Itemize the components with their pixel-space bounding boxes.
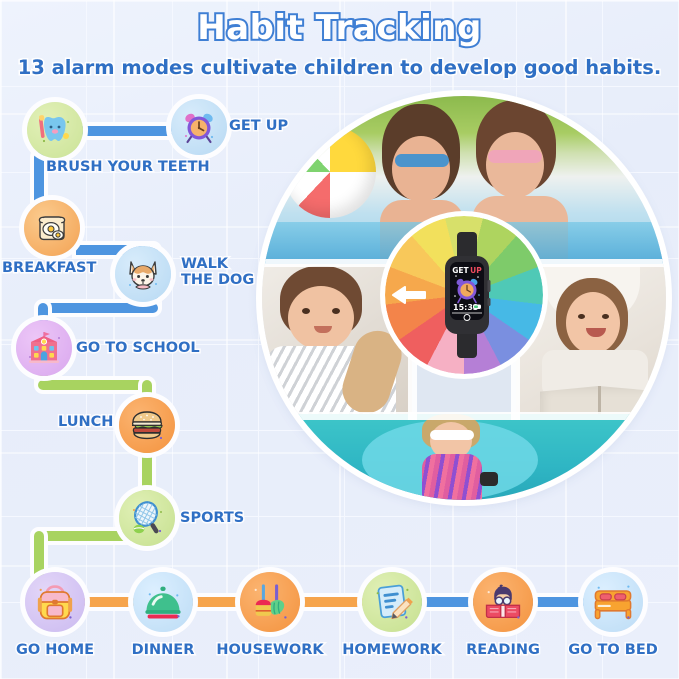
photo-girl-pool-sunglasses [262, 414, 666, 500]
habit-label-go-to-bed: GO TO BED [568, 643, 658, 659]
connector-sports-to-home-v [34, 531, 44, 579]
page-subtitle: 13 alarm modes cultivate children to dev… [0, 56, 679, 79]
habit-label-go-home: GO HOME [16, 643, 94, 659]
habit-node-walk-the-dog[interactable] [115, 246, 171, 302]
page-title: Habit Tracking [0, 8, 679, 48]
tennis-racket-icon [127, 498, 167, 538]
habit-node-go-to-school[interactable] [16, 320, 72, 376]
habit-label-sports: SPORTS [180, 511, 244, 527]
watch-mode-word2: UP [470, 266, 482, 275]
connector-school-to-lunch-h [38, 380, 152, 390]
collage-divider [262, 412, 666, 420]
habit-label-homework: HOMEWORK [342, 643, 442, 659]
habit-label-housework: HOUSEWORK [216, 643, 323, 659]
habit-node-go-to-bed[interactable] [583, 572, 643, 632]
connector-lunch-to-sports [142, 448, 152, 496]
habit-node-lunch[interactable] [119, 397, 175, 453]
food-cloche-icon [141, 580, 185, 624]
toothbrush-tooth-icon [35, 110, 75, 150]
habit-label-go-to-school: GO TO SCHOOL [76, 341, 200, 357]
connector-teeth-to-getup [78, 126, 174, 136]
backpack-icon [33, 580, 77, 624]
habit-label-reading: READING [466, 643, 540, 659]
habit-node-homework[interactable] [362, 572, 422, 632]
alarm-clock-icon [179, 107, 219, 147]
connector-reading-to-bed [531, 597, 585, 607]
habit-label-lunch: LUNCH [58, 415, 113, 431]
school-building-icon [24, 328, 64, 368]
dog-icon [123, 254, 163, 294]
connector-housework-to-homework [298, 597, 364, 607]
walk-the-dog-line2: THE DOG [181, 272, 254, 288]
habit-node-brush-your-teeth[interactable] [27, 102, 83, 158]
connector-dog-to-school-h [38, 303, 158, 313]
left-arrow-icon [391, 286, 427, 304]
habit-node-dinner[interactable] [133, 572, 193, 632]
hamburger-icon [127, 405, 167, 445]
svg-text:GETUP: GETUP [452, 266, 482, 275]
habit-node-breakfast[interactable] [24, 200, 80, 256]
habit-node-housework[interactable] [240, 572, 300, 632]
toast-egg-icon [32, 208, 72, 248]
habit-node-sports[interactable] [119, 490, 175, 546]
habit-label-brush-your-teeth: BRUSH YOUR TEETH [46, 160, 210, 176]
watch-mode-word1: GET [452, 266, 469, 275]
notebook-pencil-icon [370, 580, 414, 624]
habit-label-dinner: DINNER [132, 643, 195, 659]
kids-smartwatch: GETUP 15:33 [443, 232, 491, 358]
connector-dinner-to-housework [191, 597, 242, 607]
child-reading-icon [481, 580, 525, 624]
habit-node-get-up[interactable] [171, 99, 227, 155]
broom-dustpan-icon [248, 580, 292, 624]
habit-label-breakfast: BREAKFAST [2, 261, 96, 277]
walk-the-dog-line1: WALK [181, 256, 228, 272]
habit-label-walk-the-dog: WALKTHE DOG [181, 257, 254, 288]
habit-node-reading[interactable] [473, 572, 533, 632]
connector-homework-to-reading [420, 597, 475, 607]
habit-node-go-home[interactable] [25, 572, 85, 632]
habit-label-get-up: GET UP [229, 119, 288, 135]
bed-icon [591, 580, 635, 624]
connector-teeth-to-breakfast [34, 152, 44, 208]
connector-home-to-dinner [83, 597, 135, 607]
